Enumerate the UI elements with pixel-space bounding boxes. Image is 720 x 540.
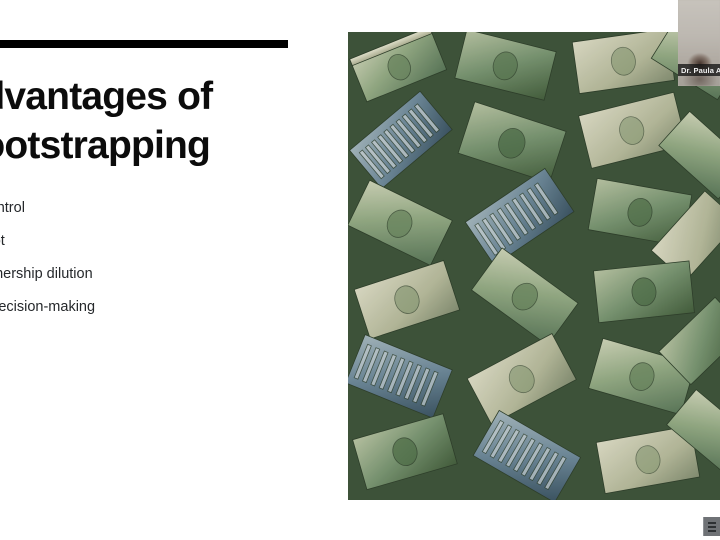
participant-video-tile[interactable]: Dr. Paula A	[678, 0, 720, 86]
menu-icon-bar	[708, 522, 716, 524]
slide-bullet-item: No debt	[0, 233, 314, 250]
slide-bullet-item: Agile decision-making	[0, 299, 314, 316]
slide-title-rule	[0, 40, 288, 48]
presentation-stage: Advantages of Bootstrapping Full control…	[0, 0, 720, 540]
slide-bullet-item: No ownership dilution	[0, 266, 314, 283]
slide-bullet-list: Full control No debt No ownership diluti…	[0, 200, 314, 332]
menu-icon-bar	[708, 530, 716, 532]
menu-icon[interactable]	[703, 517, 720, 536]
participant-name-label: Dr. Paula A	[678, 64, 720, 76]
money-photo	[348, 32, 720, 500]
money-photo-illustration	[348, 32, 720, 500]
slide-bullet-item: Full control	[0, 200, 314, 217]
menu-icon-bar	[708, 526, 716, 528]
slide-title: Advantages of Bootstrapping	[0, 72, 294, 170]
